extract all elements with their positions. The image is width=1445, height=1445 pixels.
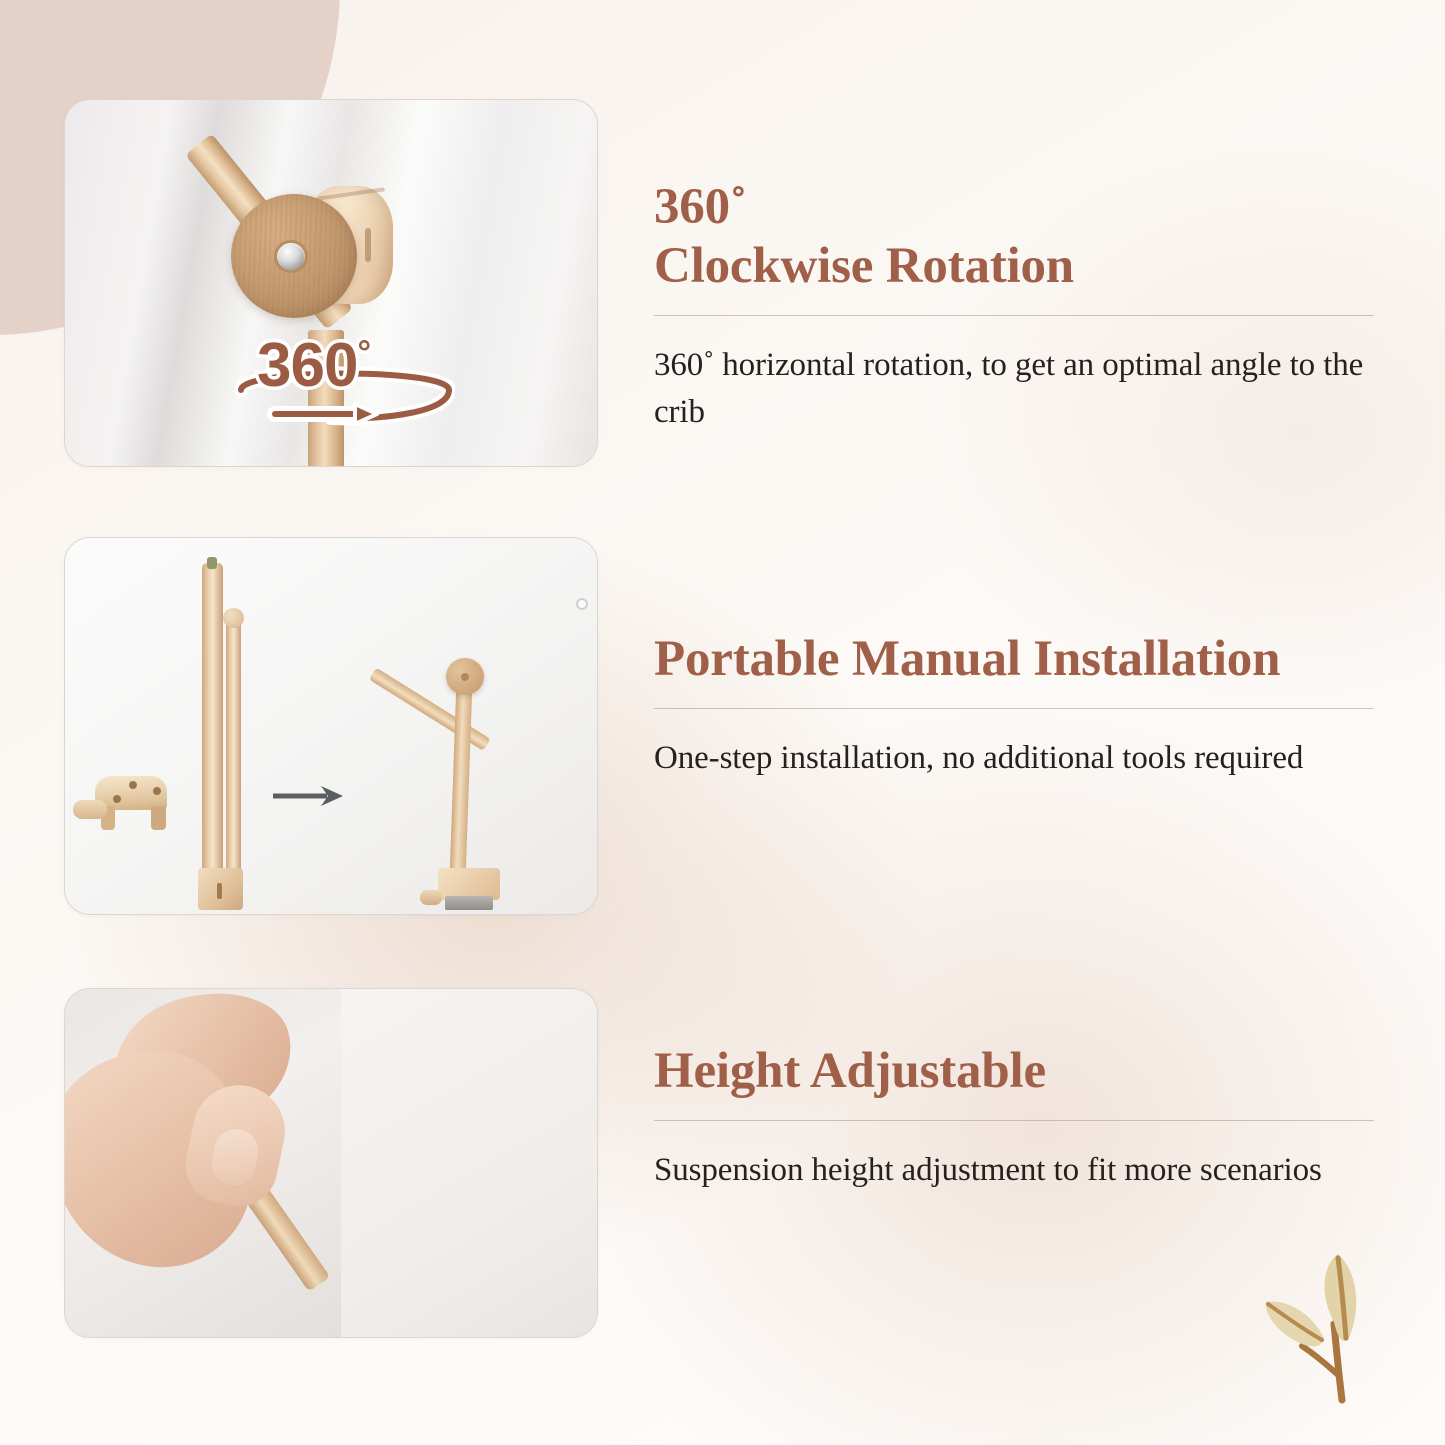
feature-description-height: Suspension height adjustment to fit more… [654,1147,1376,1194]
assembled-clamp-jaw [445,896,493,910]
feature-title-line2: Clockwise Rotation [654,237,1376,296]
angle-range-diagram-panel [341,989,598,1337]
center-screw-icon [277,243,305,270]
feature-divider [654,708,1374,709]
hands-adjusting-panel [65,989,341,1337]
clamp-hole [113,795,121,803]
arm-rod-part [226,616,241,886]
feature-title-line1: 360˚ [654,178,1376,237]
base-mount-slot [217,883,222,899]
feature-description-installation: One-step installation, no additional too… [654,735,1376,782]
assembled-clamp-knob [420,890,442,905]
feature-title-rotation: 360˚ Clockwise Rotation [654,178,1376,296]
height-adjustment-photo [64,988,598,1338]
rotation-overlay-degree: ° [357,334,370,372]
arm-rod-ball-tip [223,608,244,628]
clamp-hole [129,781,137,789]
clamp-hole [153,787,161,795]
post-rod-tip [207,557,217,569]
pivot-joint-closeup-photo: 360° [64,99,598,467]
rotation-overlay-label: 360° [257,330,370,401]
clamp-knob [73,800,107,819]
feature-title-installation: Portable Manual Installation [654,630,1376,689]
arrow-right-icon [273,784,345,808]
feature-description-rotation: 360˚ horizontal rotation, to get an opti… [654,342,1376,436]
rotation-overlay-number: 360 [257,331,357,400]
assembled-pivot-center [461,673,469,681]
feature-divider [654,315,1374,316]
feature-block-height: Height Adjustable Suspension height adju… [654,1042,1376,1194]
leaf-sprig-decor [1238,1248,1423,1433]
photo-backdrop [65,538,597,914]
product-feature-poster: 360° [0,0,1445,1445]
hanging-hook-icon [576,598,588,610]
feature-block-rotation: 360˚ Clockwise Rotation 360˚ horizontal … [654,178,1376,436]
long-post-rod-part [202,563,223,888]
feature-title-height: Height Adjustable [654,1042,1376,1101]
joint-collar-slot [365,228,371,262]
feature-divider [654,1120,1374,1121]
clamp-leg [151,806,166,830]
assembly-steps-photo [64,537,598,915]
feature-block-installation: Portable Manual Installation One-step in… [654,630,1376,782]
rotation-overlay-graphic: 360° [235,328,455,438]
